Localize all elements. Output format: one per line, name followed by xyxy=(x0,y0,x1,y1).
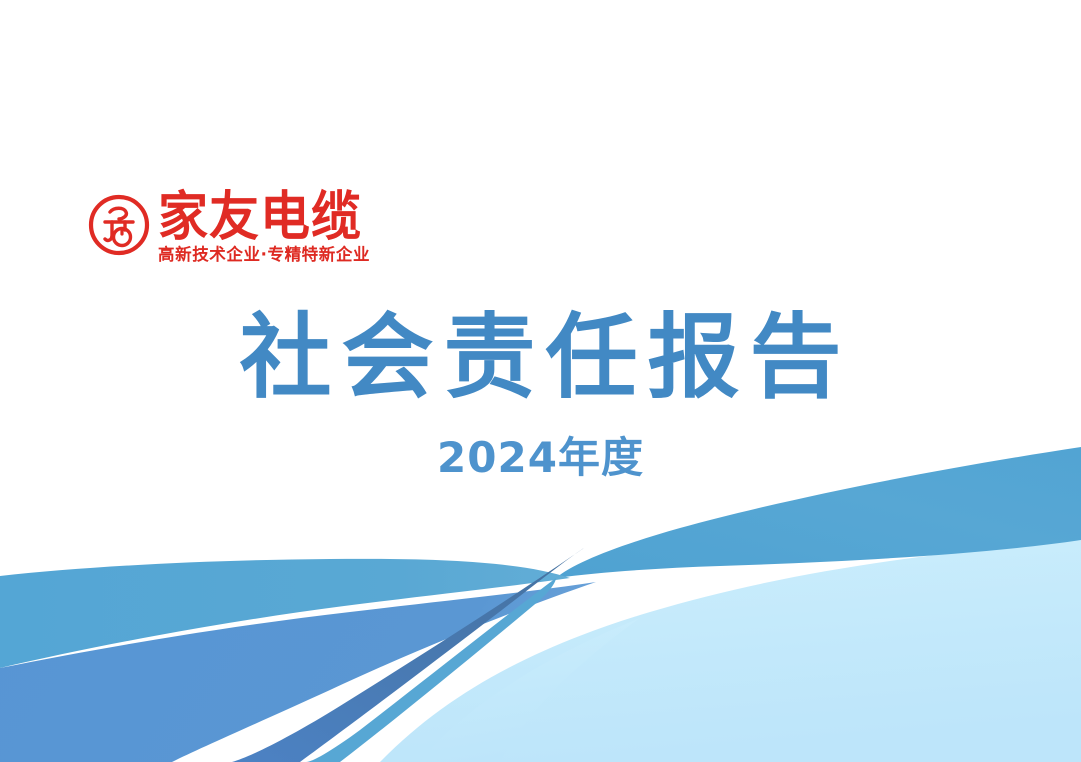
logo-text-group: 家友电缆 高新技术企业·专精特新企业 xyxy=(158,190,370,264)
page-title: 社会责任报告 xyxy=(0,312,1081,404)
logo-tagline: 高新技术企业·专精特新企业 xyxy=(158,246,370,264)
page-subtitle-year: 2024年度 xyxy=(0,437,1081,479)
report-cover-page: 家友电缆 高新技术企业·专精特新企业 社会责任报告 2024年度 xyxy=(0,0,1081,762)
company-seal-circle-icon xyxy=(88,192,150,258)
logo-wordmark: 家友电缆 xyxy=(158,190,370,243)
company-logo: 家友电缆 高新技术企业·专精特新企业 xyxy=(88,190,370,264)
